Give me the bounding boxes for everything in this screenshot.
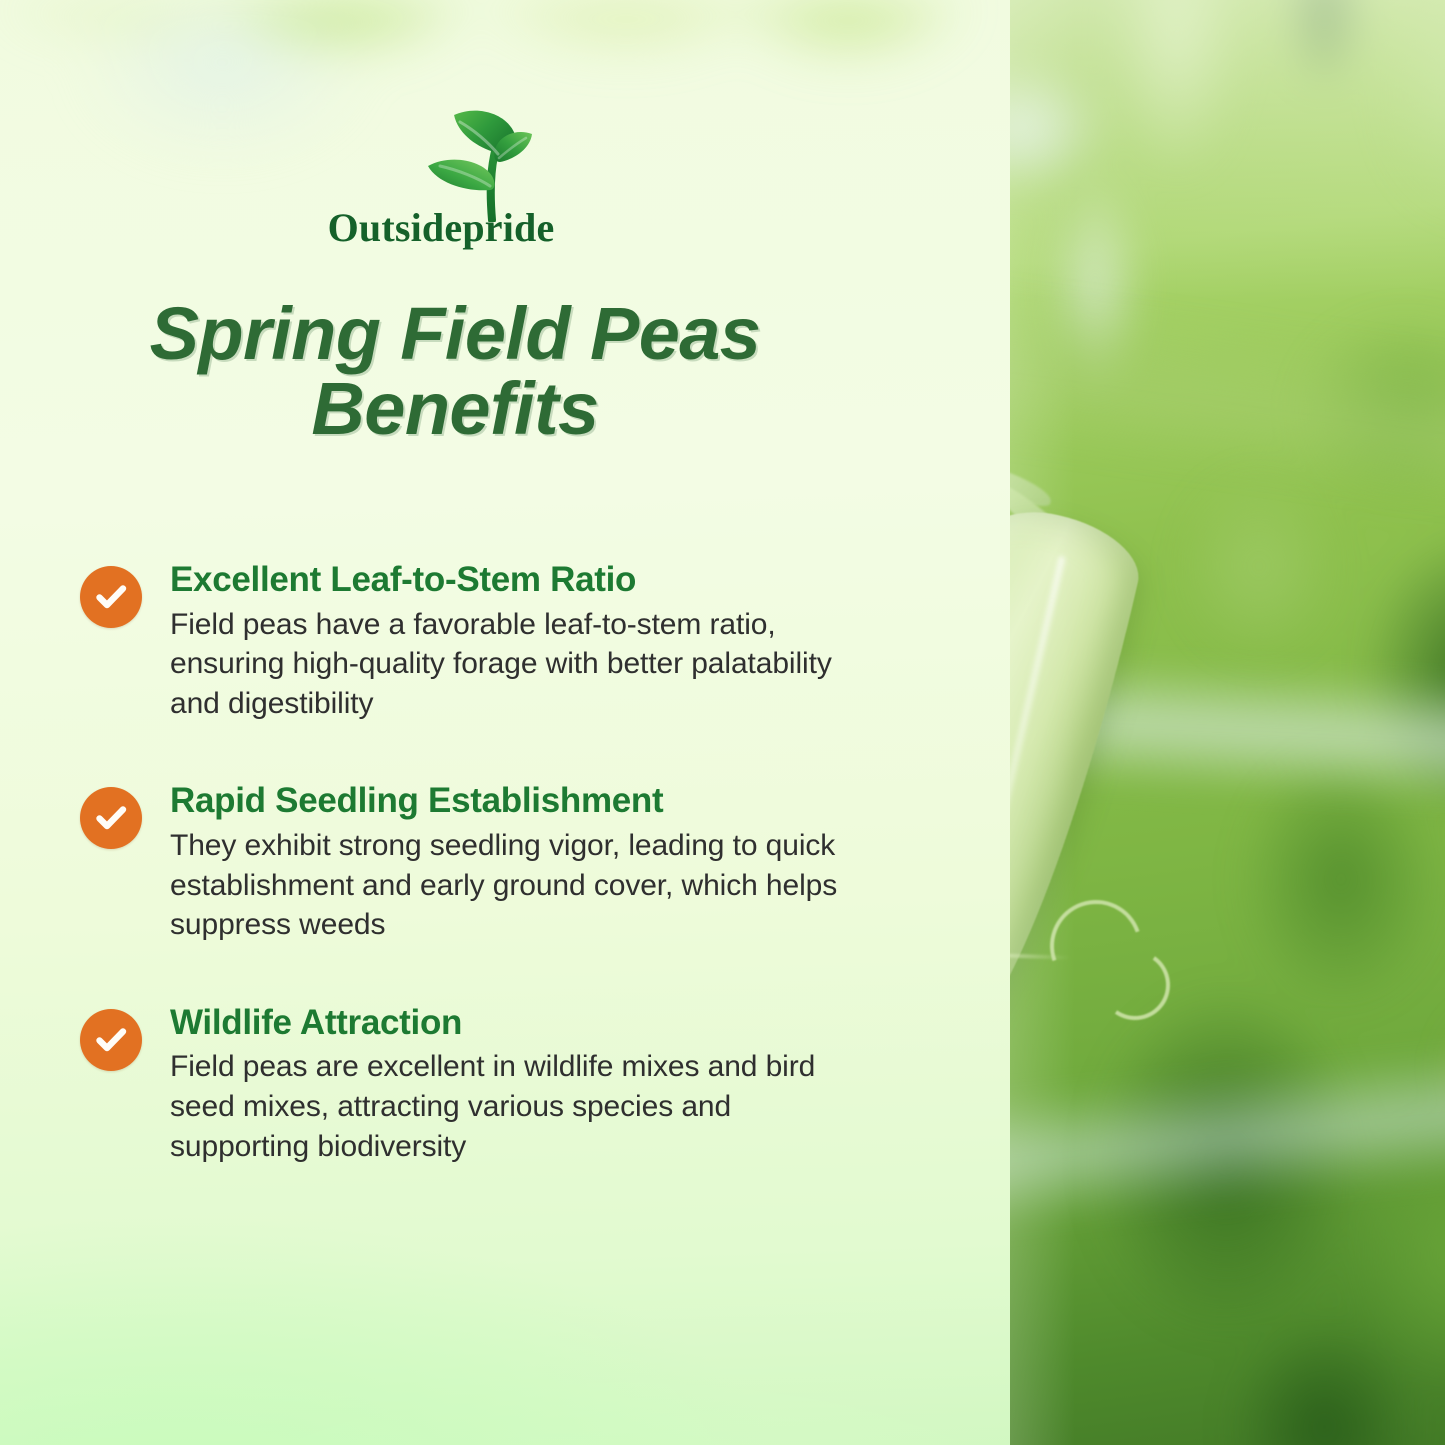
brand-logo: Outsidepride [296, 104, 586, 256]
benefit-item: Rapid Seedling Establishment They exhibi… [80, 781, 890, 944]
benefit-text-block: Excellent Leaf-to-Stem Ratio Field peas … [170, 560, 890, 723]
benefit-title: Wildlife Attraction [170, 1003, 890, 1044]
page-title-line-1: Spring Field Peas [150, 292, 761, 375]
content-area: Outsidepride Spring Field Peas Benefits … [0, 0, 1445, 1445]
brand-name: Outsidepride [296, 208, 586, 248]
benefit-description: Field peas have a favorable leaf-to-stem… [170, 605, 870, 724]
page-title: Spring Field Peas Benefits [60, 296, 850, 447]
benefit-description: They exhibit strong seedling vigor, lead… [170, 826, 870, 945]
infographic-root: Outsidepride Spring Field Peas Benefits … [0, 0, 1445, 1445]
benefit-text-block: Rapid Seedling Establishment They exhibi… [170, 781, 890, 944]
check-circle-icon [80, 1009, 142, 1071]
benefit-text-block: Wildlife Attraction Field peas are excel… [170, 1003, 890, 1166]
check-circle-icon [80, 787, 142, 849]
benefit-title: Rapid Seedling Establishment [170, 781, 890, 822]
benefit-item: Wildlife Attraction Field peas are excel… [80, 1003, 890, 1166]
benefit-title: Excellent Leaf-to-Stem Ratio [170, 560, 890, 601]
benefits-list: Excellent Leaf-to-Stem Ratio Field peas … [80, 560, 890, 1166]
check-circle-icon [80, 566, 142, 628]
page-title-line-2: Benefits [60, 371, 850, 446]
benefit-description: Field peas are excellent in wildlife mix… [170, 1047, 870, 1166]
benefit-item: Excellent Leaf-to-Stem Ratio Field peas … [80, 560, 890, 723]
